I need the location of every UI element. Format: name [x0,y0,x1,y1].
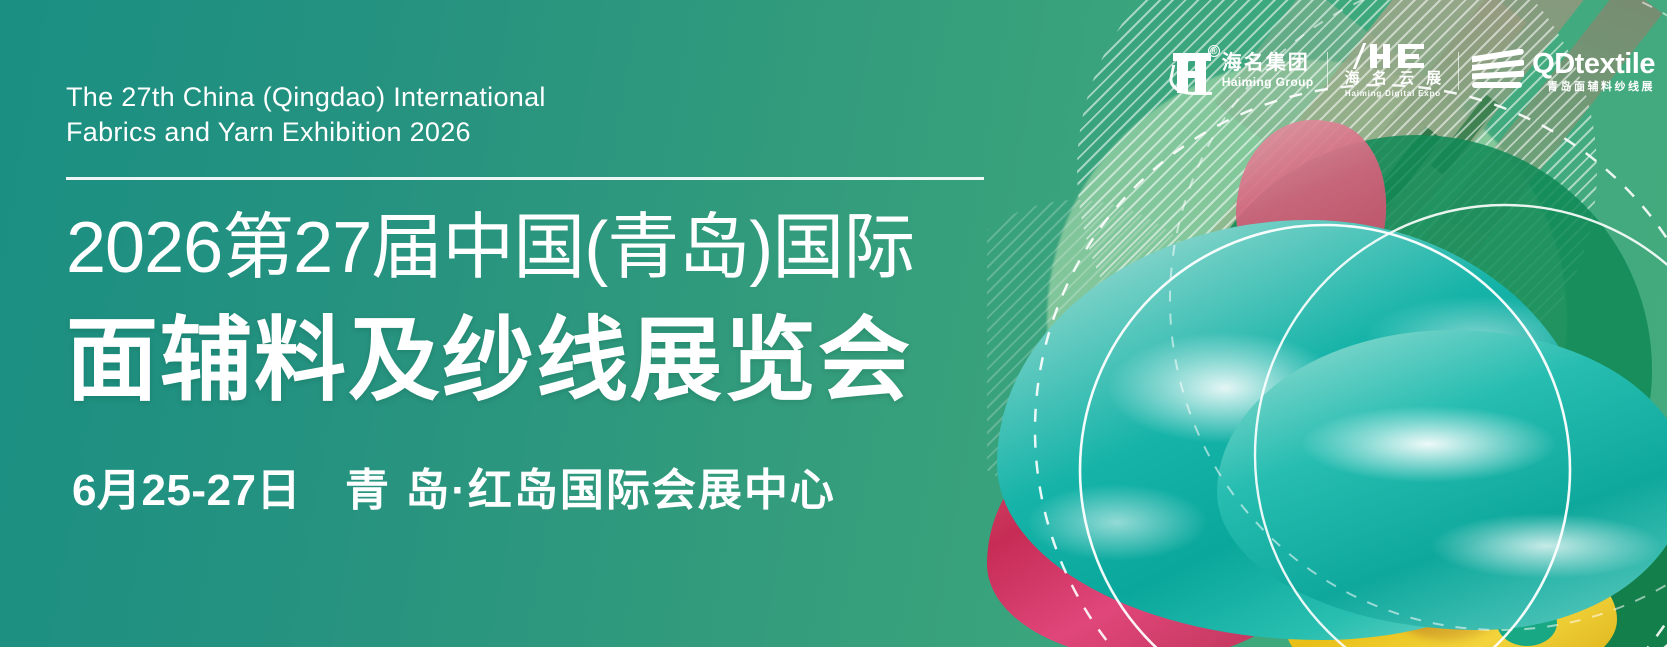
event-date: 6月25-27日 [72,462,301,520]
logo-bar: ® 海名集团 Haiming Group 海 名 云 展 Haiming Dig… [1169,42,1655,100]
hde-chinese-name: 海 名 云 展 [1341,70,1446,88]
hde-monogram-icon [1356,43,1430,68]
chinese-subtitle: 2026第27届中国(青岛)国际 [66,206,914,290]
logo-divider-1 [1327,52,1328,90]
chinese-main-title: 面辅料及纱线展览会 [66,305,912,417]
exhibition-banner: ® 海名集团 Haiming Group 海 名 云 展 Haiming Dig… [0,0,1667,647]
registered-trademark-icon: ® [1208,45,1220,57]
qdtextile-english-name: QDtextile [1532,49,1655,80]
divider-rule [66,177,984,180]
logo-qdtextile[interactable]: QDtextile 青岛面辅料纱线展 [1472,43,1655,99]
headline-block: The 27th China (Qingdao) International F… [66,0,1026,647]
qdtextile-wave-mark-icon [1472,49,1524,93]
haiming-chinese-name: 海名集团 [1222,52,1314,75]
logo-divider-2 [1458,52,1459,90]
haiming-english-name: Haiming Group [1222,75,1314,90]
date-venue-row: 6月25-27日 青 岛·红岛国际会展中心 [72,462,836,520]
english-title: The 27th China (Qingdao) International F… [66,80,546,150]
logo-haiming-digital-expo[interactable]: 海 名 云 展 Haiming Digital Expo [1341,43,1446,99]
logo-haiming-group[interactable]: ® 海名集团 Haiming Group [1169,43,1314,99]
hde-english-name: Haiming Digital Expo [1345,88,1441,99]
event-venue: 青 岛·红岛国际会展中心 [345,462,836,520]
haiming-h-monogram-icon: ® [1169,47,1215,95]
qdtextile-chinese-name: 青岛面辅料纱线展 [1532,80,1655,94]
